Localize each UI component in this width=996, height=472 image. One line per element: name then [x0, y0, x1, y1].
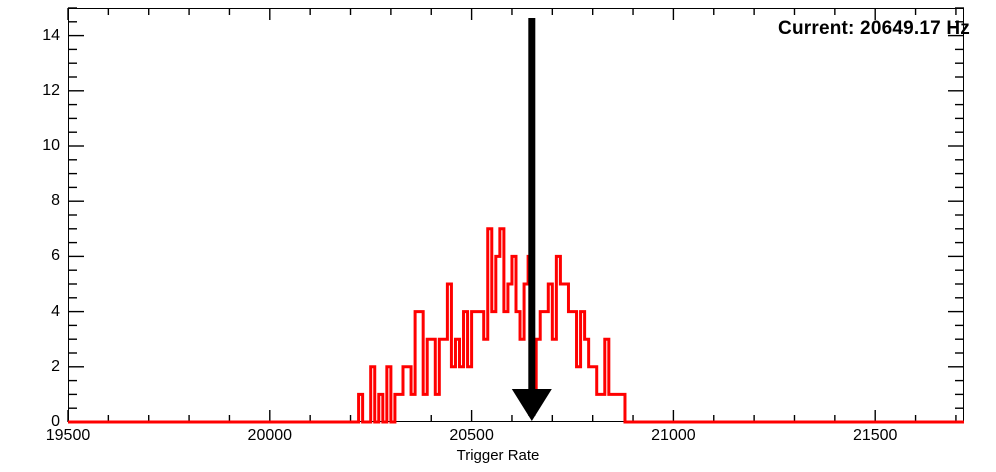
y-tick-label: 8	[20, 193, 60, 209]
axis-ticks	[68, 8, 964, 422]
x-tick-label: 21500	[815, 428, 935, 444]
x-tick-label: 19500	[8, 428, 128, 444]
x-tick-label: 20500	[412, 428, 532, 444]
y-tick-label: 2	[20, 359, 60, 375]
y-tick-label: 14	[20, 28, 60, 44]
y-tick-label: 12	[20, 83, 60, 99]
current-rate-readout: Current: 20649.17 Hz	[778, 18, 970, 40]
current-value-marker	[512, 18, 552, 421]
plot-canvas	[0, 0, 996, 472]
y-tick-label: 10	[20, 138, 60, 154]
x-tick-label: 20000	[210, 428, 330, 444]
trigger-rate-histogram-plot: 02468101214 1950020000205002100021500 Tr…	[0, 0, 996, 472]
x-tick-label: 21000	[613, 428, 733, 444]
y-tick-label: 6	[20, 248, 60, 264]
x-axis-title: Trigger Rate	[0, 447, 996, 464]
y-tick-label: 4	[20, 304, 60, 320]
